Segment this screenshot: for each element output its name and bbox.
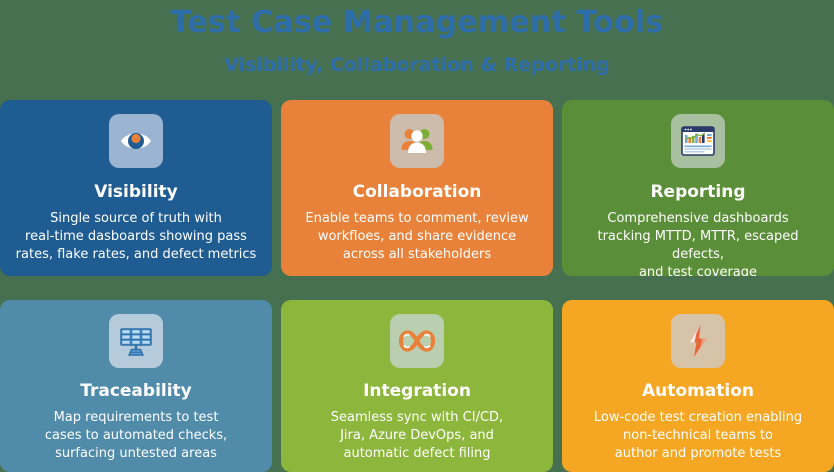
infographic-page: Test Case Management Tools Visibility, C… [0, 0, 834, 472]
grid-monitor-icon [117, 322, 155, 360]
icon-tile-reporting [671, 114, 725, 168]
card-title-integration: Integration [363, 381, 471, 401]
people-group-icon [398, 122, 436, 160]
page-header: Test Case Management Tools Visibility, C… [0, 0, 834, 77]
card-title-collaboration: Collaboration [353, 182, 482, 202]
card-description-collaboration: Enable teams to comment, review workfloe… [305, 210, 528, 264]
feature-card-collaboration[interactable]: Collaboration Enable teams to comment, r… [281, 100, 553, 276]
icon-tile-automation [671, 314, 725, 368]
feature-card-reporting[interactable]: Reporting Comprehensive dashboards track… [562, 100, 834, 276]
page-subtitle: Visibility, Collaboration & Reporting [0, 41, 834, 77]
card-description-visibility: Single source of truth with real-time da… [16, 210, 257, 264]
card-description-traceability: Map requirements to test cases to automa… [45, 409, 227, 463]
card-description-automation: Low-code test creation enabling non-tech… [594, 409, 802, 463]
page-title: Test Case Management Tools [0, 2, 834, 41]
card-title-traceability: Traceability [80, 381, 192, 401]
infinity-loop-icon [398, 322, 436, 360]
icon-tile-collaboration [390, 114, 444, 168]
icon-tile-integration [390, 314, 444, 368]
card-title-automation: Automation [642, 381, 754, 401]
lightning-bolt-icon [679, 322, 717, 360]
card-title-visibility: Visibility [94, 182, 178, 202]
card-title-reporting: Reporting [650, 182, 745, 202]
feature-card-automation[interactable]: Automation Low-code test creation enabli… [562, 300, 834, 472]
feature-card-traceability[interactable]: Traceability Map requirements to test ca… [0, 300, 272, 472]
eye-icon [117, 122, 155, 160]
icon-tile-visibility [109, 114, 163, 168]
icon-tile-traceability [109, 314, 163, 368]
feature-card-grid: Visibility Single source of truth with r… [0, 100, 834, 472]
feature-card-visibility[interactable]: Visibility Single source of truth with r… [0, 100, 272, 276]
card-description-integration: Seamless sync with CI/CD, Jira, Azure De… [331, 409, 503, 463]
dashboard-chart-icon [679, 122, 717, 160]
card-description-reporting: Comprehensive dashboards tracking MTTD, … [572, 210, 824, 276]
feature-card-integration[interactable]: Integration Seamless sync with CI/CD, Ji… [281, 300, 553, 472]
